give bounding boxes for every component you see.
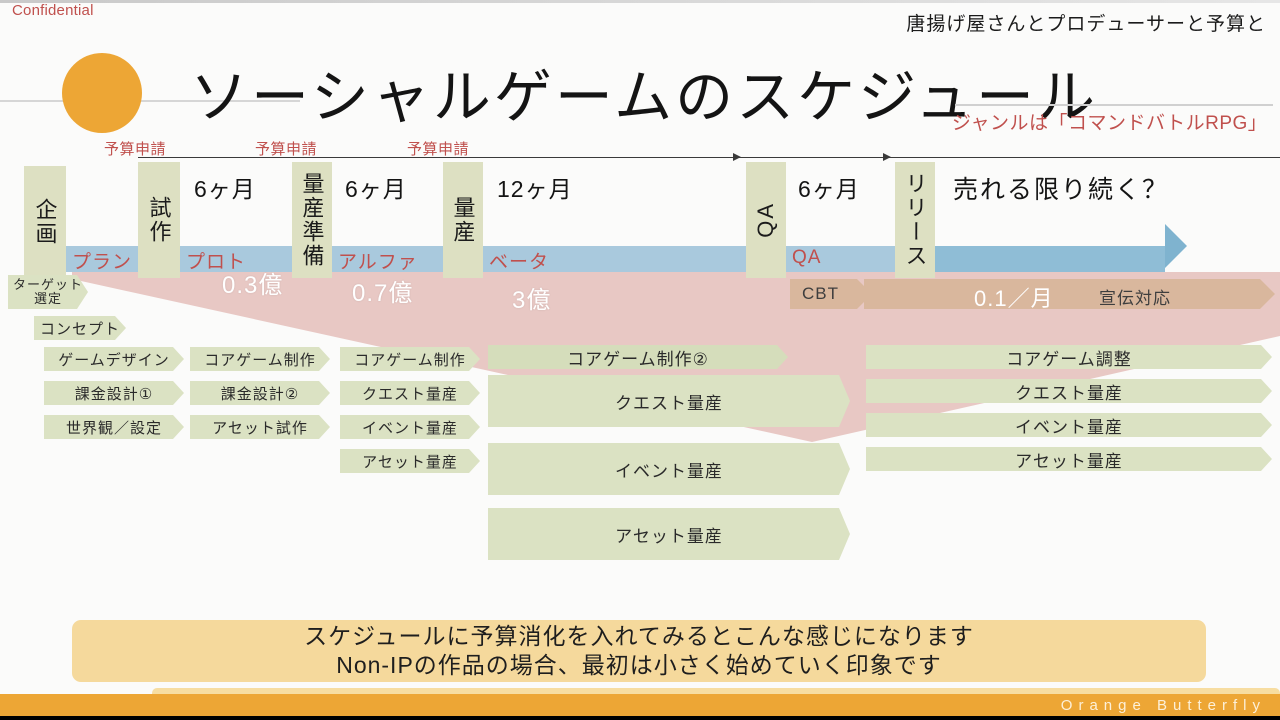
task-event-mass-b[interactable]: イベント量産 bbox=[488, 443, 850, 495]
phase-block-qa[interactable]: QA bbox=[746, 162, 786, 278]
task-game-design[interactable]: ゲームデザイン bbox=[44, 347, 184, 371]
promotion-label: 宣伝対応 bbox=[1099, 284, 1171, 309]
duration-label-1: 6ヶ月 bbox=[194, 170, 256, 204]
orange-circle-decoration bbox=[62, 53, 142, 133]
stage-label: ベータ bbox=[489, 247, 549, 274]
caption-line-2: Non-IPの作品の場合、最初は小さく始めていく印象です bbox=[336, 651, 942, 680]
duration-label-2: 6ヶ月 bbox=[345, 170, 407, 204]
phase-label: QA bbox=[754, 202, 777, 238]
top-divider bbox=[0, 0, 1280, 3]
stage-label: プラン bbox=[72, 247, 132, 274]
timeline-arrow-3 bbox=[890, 157, 1280, 158]
phase-label: 量産準備 bbox=[300, 172, 323, 268]
task-monetization-1[interactable]: 課金設計① bbox=[44, 381, 184, 405]
stage-bar-live[interactable] bbox=[935, 246, 1165, 272]
subtitle-genre: ジャンルは「コマンドバトルRPG」 bbox=[952, 108, 1267, 135]
stage-label: QA bbox=[792, 247, 821, 269]
duration-label-4: 6ヶ月 bbox=[798, 170, 860, 204]
phase-block-kikaku[interactable]: 企画 bbox=[24, 166, 66, 278]
task-core-game-dev-2[interactable]: コアゲーム制作② bbox=[488, 345, 788, 369]
promotion-amount: 0.1／月 bbox=[974, 281, 1054, 313]
phase-label: 試作 bbox=[147, 196, 170, 244]
cost-label-3: 3億 bbox=[512, 280, 551, 315]
task-target-selection[interactable]: ターゲット選定 bbox=[8, 275, 88, 309]
task-worldview-setting[interactable]: 世界観／設定 bbox=[44, 415, 184, 439]
task-event-mass-a[interactable]: イベント量産 bbox=[340, 415, 480, 439]
task-concept[interactable]: コンセプト bbox=[34, 316, 126, 340]
footer-brand: Orange Butterfly bbox=[1061, 697, 1266, 714]
stage-bar-beta[interactable]: ベータ bbox=[483, 246, 746, 272]
subtitle-rule bbox=[955, 104, 1273, 106]
promotion-bar[interactable]: 0.1／月 宣伝対応 bbox=[864, 279, 1260, 309]
task-core-game-dev-a[interactable]: コアゲーム制作 bbox=[190, 347, 330, 371]
budget-request-label-3: 予算申請 bbox=[407, 138, 469, 159]
confidential-marker: Confidential bbox=[12, 2, 94, 19]
timeline: 予算申請 予算申請 予算申請 企画 試作 量産準備 量産 QA リリース 6ヶ月… bbox=[0, 150, 1280, 280]
stage-bar-arrow-head bbox=[1165, 224, 1187, 268]
stage-bar-plan[interactable]: プラン bbox=[66, 246, 138, 272]
task-event-mass-c[interactable]: イベント量産 bbox=[866, 413, 1272, 437]
budget-request-label-1: 予算申請 bbox=[104, 138, 166, 159]
stage-label: アルファ bbox=[338, 247, 418, 274]
phase-block-ryosan-junbi[interactable]: 量産準備 bbox=[292, 162, 332, 278]
bottom-letterbox bbox=[0, 716, 1280, 720]
budget-request-label-2: 予算申請 bbox=[255, 138, 317, 159]
task-asset-mass-b[interactable]: アセット量産 bbox=[488, 508, 850, 560]
task-quest-mass-c[interactable]: クエスト量産 bbox=[866, 379, 1272, 403]
task-asset-mass-c[interactable]: アセット量産 bbox=[866, 447, 1272, 471]
phase-block-release[interactable]: リリース bbox=[895, 162, 935, 278]
phase-label: 企画 bbox=[33, 198, 56, 246]
phase-block-ryosan[interactable]: 量産 bbox=[443, 162, 483, 278]
task-quest-mass-b[interactable]: クエスト量産 bbox=[488, 375, 850, 427]
stage-bar-qa[interactable]: QA bbox=[786, 246, 895, 272]
task-asset-prototype[interactable]: アセット試作 bbox=[190, 415, 330, 439]
sell-note: 売れる限り続く？ bbox=[953, 170, 1169, 206]
slide-root: Confidential 唐揚げ屋さんとプロデューサーと予算と ソーシャルゲーム… bbox=[0, 0, 1280, 720]
stage-bar-alpha[interactable]: アルファ bbox=[332, 246, 443, 272]
task-asset-mass-a[interactable]: アセット量産 bbox=[340, 449, 480, 473]
cbt-bar[interactable]: CBT bbox=[790, 279, 857, 309]
header-note: 唐揚げ屋さんとプロデューサーと予算と bbox=[906, 9, 1266, 36]
cost-label-1: 0.3億 bbox=[222, 265, 283, 300]
timeline-arrow-2 bbox=[740, 157, 890, 158]
task-core-game-dev-b[interactable]: コアゲーム制作 bbox=[340, 347, 480, 371]
task-core-game-tuning[interactable]: コアゲーム調整 bbox=[866, 345, 1272, 369]
task-quest-mass-a[interactable]: クエスト量産 bbox=[340, 381, 480, 405]
phase-label: リリース bbox=[903, 172, 926, 268]
phase-label: 量産 bbox=[451, 196, 474, 244]
caption-line-1: スケジュールに予算消化を入れてみるとこんな感じになります bbox=[304, 622, 974, 651]
cost-label-2: 0.7億 bbox=[352, 273, 413, 308]
task-label: ターゲット選定 bbox=[8, 278, 88, 307]
summary-caption: スケジュールに予算消化を入れてみるとこんな感じになります Non-IPの作品の場… bbox=[72, 620, 1206, 682]
duration-label-3: 12ヶ月 bbox=[497, 170, 573, 204]
task-monetization-2[interactable]: 課金設計② bbox=[190, 381, 330, 405]
phase-block-shisaku[interactable]: 試作 bbox=[138, 162, 180, 278]
